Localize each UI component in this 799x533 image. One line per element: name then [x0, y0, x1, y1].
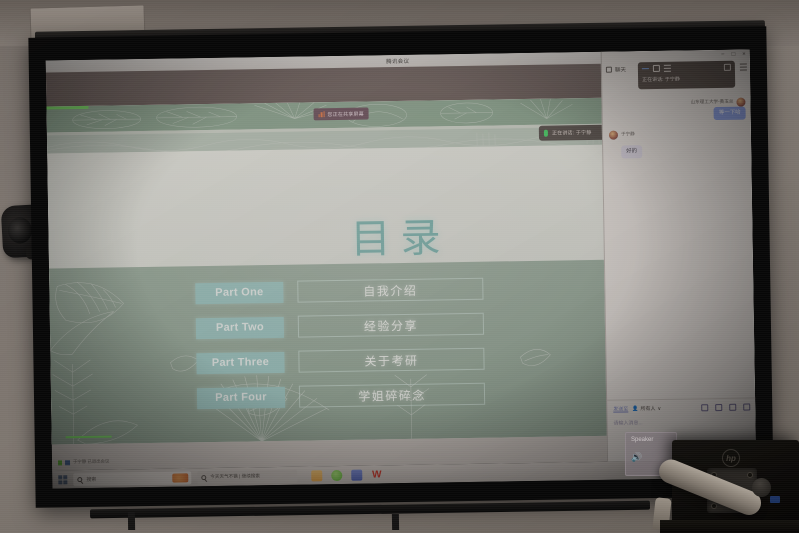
chat-message-incoming: 于宁静 好的 [609, 129, 746, 159]
people-icon: 👤 [632, 406, 638, 412]
chat-message-list[interactable]: 山东理工大学-黄玉兰 等一下哈 于宁静 好的 [602, 93, 756, 415]
tencent-meeting-icon[interactable] [351, 469, 362, 480]
chat-panel-header: 聊天 [606, 65, 626, 73]
tencent-meeting-window[interactable]: 腾讯会议 [46, 49, 756, 470]
floating-toolbar-status: 正在讲话: 于宁静 [642, 75, 731, 83]
file-explorer-icon[interactable] [311, 470, 322, 481]
chevron-down-icon[interactable]: ∨ [657, 405, 661, 411]
hamburger-menu-icon[interactable] [740, 64, 747, 71]
agenda-row[interactable]: Part Three 关于考研 [196, 346, 616, 375]
chat-panel[interactable]: − □ × 聊天 [601, 49, 756, 461]
agenda-part-label: Part Three [196, 351, 284, 373]
avatar [736, 98, 745, 107]
message-bubble: 等一下哈 [714, 107, 746, 121]
message-sender: 山东理工大学-黄玉兰 [691, 98, 734, 105]
composer-icons[interactable] [701, 404, 750, 412]
browser-icon[interactable] [331, 469, 342, 480]
window-icon[interactable] [653, 65, 660, 72]
screen-share-badge: 您正在共享屏幕 [313, 107, 368, 120]
expand-icon[interactable] [724, 64, 731, 71]
agenda-row[interactable]: Part Two 经验分享 [196, 311, 616, 340]
projected-desktop: 腾讯会议 [46, 49, 757, 488]
screen-support-right [392, 514, 399, 530]
search-icon [201, 475, 206, 480]
emoji-icon[interactable] [701, 404, 708, 411]
microphone-level-icon [544, 130, 548, 137]
windows-start-icon[interactable] [58, 475, 67, 484]
image-icon[interactable] [715, 404, 722, 411]
chat-panel-title: 聊天 [615, 65, 626, 73]
audience-label: 所有人 [640, 405, 655, 412]
close-icon[interactable]: × [742, 52, 746, 58]
window-controls[interactable]: − □ × [721, 52, 746, 58]
search-placeholder: 搜索 [86, 475, 96, 482]
device-led [770, 496, 780, 503]
search-thumbnail [172, 473, 188, 482]
minimize-icon[interactable]: − [721, 52, 725, 58]
floating-meeting-toolbar[interactable]: 正在讲话: 于宁静 [638, 61, 735, 90]
status-dot-icon [58, 460, 62, 465]
message-bubble: 好的 [621, 145, 642, 158]
tray-notification-text: 于宁静 已退出会议 [73, 459, 109, 466]
search-input[interactable]: 搜索 [73, 471, 191, 486]
app-icon [65, 460, 70, 465]
chat-message-outgoing: 山东理工大学-黄玉兰 等一下哈 [608, 98, 745, 122]
chat-icon [606, 67, 612, 73]
window-title: 腾讯会议 [386, 57, 409, 65]
agenda-topic: 经验分享 [298, 313, 484, 338]
floating-toolbar-icons[interactable] [642, 64, 731, 72]
maximize-icon[interactable]: □ [732, 52, 736, 58]
desk-edge [660, 520, 799, 533]
agenda-list: Part One 自我介绍 Part Two 经验分享 Part Three 关… [195, 276, 617, 423]
minimize-icon[interactable] [642, 68, 649, 70]
file-icon[interactable] [743, 404, 750, 411]
agenda-topic: 自我介绍 [297, 278, 483, 303]
composer-toolbar[interactable]: 发送至 👤 所有人 ∨ [613, 404, 750, 413]
taskbar-app-icons[interactable]: W [311, 469, 382, 481]
send-to-label[interactable]: 发送至 [613, 405, 628, 412]
audience-selector[interactable]: 👤 所有人 ∨ [632, 405, 661, 412]
agenda-topic: 关于考研 [298, 348, 484, 373]
agenda-topic: 学姐碎碎念 [299, 383, 485, 408]
osd-label: Speaker [631, 437, 671, 443]
hp-logo: hp [722, 449, 740, 467]
avatar [609, 131, 618, 140]
list-icon[interactable] [664, 65, 671, 72]
speaking-label: 正在讲话: 于宁静 [552, 129, 592, 137]
message-header: 于宁静 [609, 129, 746, 140]
screen-share-label: 您正在共享屏幕 [327, 110, 364, 118]
screen-support-left [128, 512, 135, 530]
agenda-part-label: Part One [195, 281, 283, 303]
search-suggestion-text: 今天天气不错 | 继续搜索 [210, 473, 260, 480]
agenda-part-label: Part Two [196, 316, 284, 338]
screenshot-icon[interactable] [729, 404, 736, 411]
search-suggestion-pill[interactable]: 今天天气不错 | 继续搜索 [197, 469, 297, 484]
wps-icon[interactable]: W [371, 469, 382, 480]
agenda-row[interactable]: Part Four 学姐碎碎念 [197, 381, 617, 410]
tray-notification: 于宁静 已退出会议 [58, 459, 109, 466]
signal-bars-icon [319, 111, 325, 117]
message-sender: 于宁静 [621, 131, 635, 137]
message-input[interactable]: 请输入消息... [613, 418, 750, 427]
room-photo: 腾讯会议 [0, 0, 799, 533]
agenda-part-label: Part Four [197, 386, 285, 408]
search-icon [77, 477, 82, 482]
